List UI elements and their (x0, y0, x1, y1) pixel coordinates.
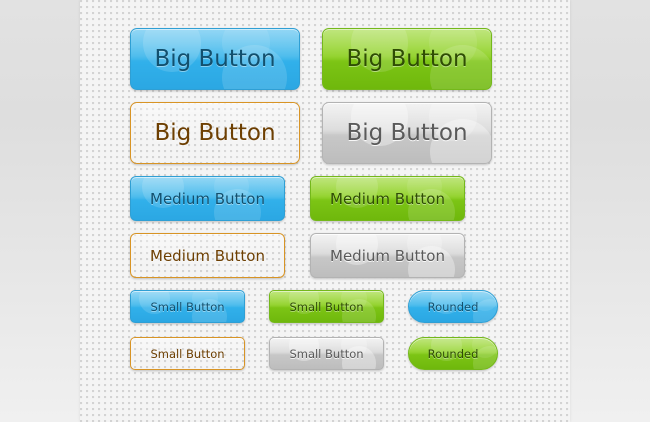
small-button-orange[interactable]: Small Button (130, 337, 245, 370)
big-row-2: Big ButtonBig Button (130, 102, 550, 164)
button-rows-container: Big ButtonBig ButtonBig ButtonBig Button… (130, 28, 550, 384)
medium-button-blue[interactable]: Medium Button (130, 176, 285, 221)
button-label: Big Button (154, 46, 275, 72)
big-button-orange[interactable]: Big Button (130, 102, 300, 164)
button-label: Big Button (346, 46, 467, 72)
medium-button-gray[interactable]: Medium Button (310, 233, 465, 278)
medium-row-1: Medium ButtonMedium Button (130, 176, 550, 221)
small-button-blue[interactable]: Small Button (130, 290, 245, 323)
medium-button-orange[interactable]: Medium Button (130, 233, 285, 278)
big-row-1: Big ButtonBig Button (130, 28, 550, 90)
rounded-button-blue[interactable]: Rounded (408, 290, 498, 323)
button-label: Medium Button (150, 247, 265, 265)
small-row-2: Small ButtonSmall ButtonRounded (130, 337, 550, 370)
button-label: Small Button (289, 300, 363, 314)
button-label: Small Button (150, 347, 224, 361)
rounded-button-green[interactable]: Rounded (408, 337, 498, 370)
button-label: Medium Button (330, 247, 445, 265)
big-button-blue[interactable]: Big Button (130, 28, 300, 90)
button-label: Medium Button (150, 190, 265, 208)
button-label: Small Button (150, 300, 224, 314)
button-showcase-panel: Big ButtonBig ButtonBig ButtonBig Button… (80, 0, 570, 422)
button-label: Big Button (154, 120, 275, 146)
button-label: Rounded (428, 347, 479, 361)
big-button-green[interactable]: Big Button (322, 28, 492, 90)
button-label: Medium Button (330, 190, 445, 208)
medium-button-green[interactable]: Medium Button (310, 176, 465, 221)
small-button-gray[interactable]: Small Button (269, 337, 384, 370)
small-row-1: Small ButtonSmall ButtonRounded (130, 290, 550, 323)
button-label: Rounded (428, 300, 479, 314)
button-label: Small Button (289, 347, 363, 361)
button-label: Big Button (346, 120, 467, 146)
big-button-gray[interactable]: Big Button (322, 102, 492, 164)
small-button-green[interactable]: Small Button (269, 290, 384, 323)
medium-row-2: Medium ButtonMedium Button (130, 233, 550, 278)
